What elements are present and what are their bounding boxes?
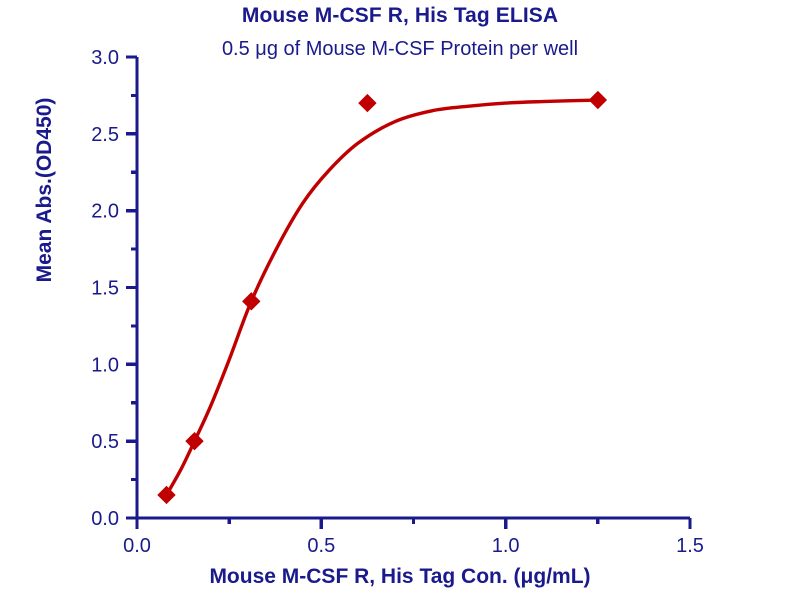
y-tick-label: 1.0 [91,354,119,376]
elisa-chart-figure: Mouse M-CSF R, His Tag ELISA 0.5 μg of M… [0,0,800,600]
x-tick-label: 1.5 [676,535,704,557]
fit-curve [166,100,597,495]
plot-area: 0.00.51.01.52.02.53.00.00.51.01.5 [0,0,800,600]
y-tick-label: 1.5 [91,278,119,300]
x-tick-label: 1.0 [492,535,520,557]
x-tick-label: 0.0 [123,535,151,557]
data-point-marker [158,486,175,503]
y-tick-label: 2.0 [91,201,119,223]
y-tick-label: 0.5 [91,431,119,453]
fit-curve-path [166,100,597,495]
y-tick-label: 3.0 [91,47,119,69]
tick-labels: 0.00.51.01.52.02.53.00.00.51.01.5 [91,47,704,557]
y-tick-label: 2.5 [91,124,119,146]
data-markers [158,92,606,504]
axes [126,57,690,529]
data-point-marker [186,433,203,450]
y-tick-label: 0.0 [91,508,119,530]
data-point-marker [589,92,606,109]
data-point-marker [243,293,260,310]
data-point-marker [359,95,376,112]
x-tick-label: 0.5 [307,535,335,557]
